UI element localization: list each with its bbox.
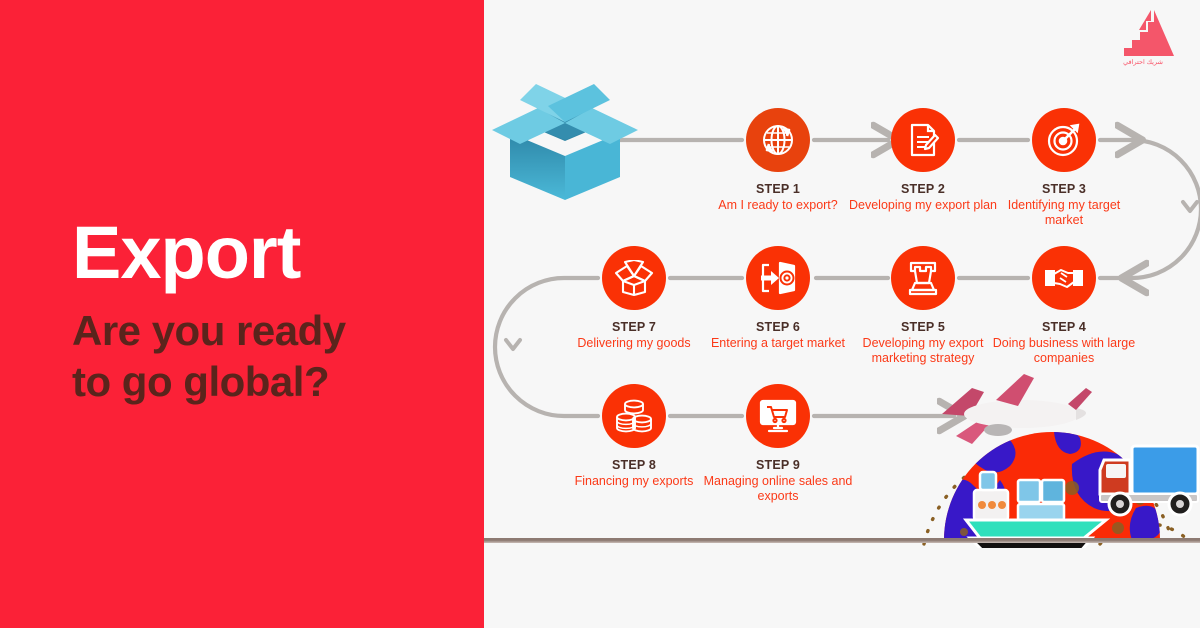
global-logistics-illustration — [904, 368, 1200, 548]
step-title: STEP 5 — [848, 320, 998, 334]
globe-arrows-icon — [746, 108, 810, 172]
step-title: STEP 6 — [703, 320, 853, 334]
step-description: Am I ready to export? — [703, 198, 853, 213]
page-subtitle: Are you ready to go global? — [72, 305, 346, 407]
step-description: Identifying my target market — [989, 198, 1139, 229]
coin-stacks-icon — [602, 384, 666, 448]
step-description: Entering a target market — [703, 336, 853, 351]
step-description: Doing business with large companies — [989, 336, 1139, 367]
step-title: STEP 8 — [559, 458, 709, 472]
handshake-icon — [1032, 246, 1096, 310]
step-node-2[interactable]: STEP 2 Developing my export plan — [848, 108, 998, 213]
door-entry-target-icon — [746, 246, 810, 310]
open-package-icon — [602, 246, 666, 310]
subtitle-line-2: to go global? — [72, 356, 346, 407]
infographic-canvas: Export Are you ready to go global? — [0, 0, 1200, 628]
subtitle-line-1: Are you ready — [72, 305, 346, 356]
step-node-5[interactable]: STEP 5 Developing my export marketing st… — [848, 246, 998, 367]
step-node-1[interactable]: STEP 1 Am I ready to export? — [703, 108, 853, 213]
step-title: STEP 2 — [848, 182, 998, 196]
step-title: STEP 7 — [559, 320, 709, 334]
step-description: Financing my exports — [559, 474, 709, 489]
left-title-panel: Export Are you ready to go global? — [0, 0, 484, 628]
ground-line — [484, 538, 1200, 543]
document-pencil-icon — [891, 108, 955, 172]
step-description: Managing online sales and exports — [703, 474, 853, 505]
step-description: Developing my export plan — [848, 198, 998, 213]
step-node-9[interactable]: STEP 9 Managing online sales and exports — [703, 384, 853, 505]
step-node-6[interactable]: STEP 6 Entering a target market — [703, 246, 853, 351]
chess-rook-icon — [891, 246, 955, 310]
step-node-8[interactable]: STEP 8 Financing my exports — [559, 384, 709, 489]
logo-tagline: شريك احترافي — [1100, 58, 1186, 66]
step-title: STEP 9 — [703, 458, 853, 472]
arrowhead-right-uturn — [1183, 202, 1197, 211]
brand-logo: شريك احترافي — [1100, 8, 1186, 72]
step-title: STEP 4 — [989, 320, 1139, 334]
step-node-4[interactable]: STEP 4 Doing business with large compani… — [989, 246, 1139, 367]
step-title: STEP 1 — [703, 182, 853, 196]
mountain-peak-logo-icon — [1110, 8, 1176, 58]
open-cardboard-box-icon — [490, 78, 640, 203]
page-title: Export — [72, 216, 300, 290]
flow-diagram-panel: STEP 1 Am I ready to export? STEP 2 Deve… — [484, 0, 1200, 628]
arrowhead-left-uturn — [506, 340, 520, 349]
monitor-cart-icon — [746, 384, 810, 448]
step-node-3[interactable]: STEP 3 Identifying my target market — [989, 108, 1139, 229]
step-title: STEP 3 — [989, 182, 1139, 196]
step-node-7[interactable]: STEP 7 Delivering my goods — [559, 246, 709, 351]
target-dart-icon — [1032, 108, 1096, 172]
step-description: Developing my export marketing strategy — [848, 336, 998, 367]
step-description: Delivering my goods — [559, 336, 709, 351]
